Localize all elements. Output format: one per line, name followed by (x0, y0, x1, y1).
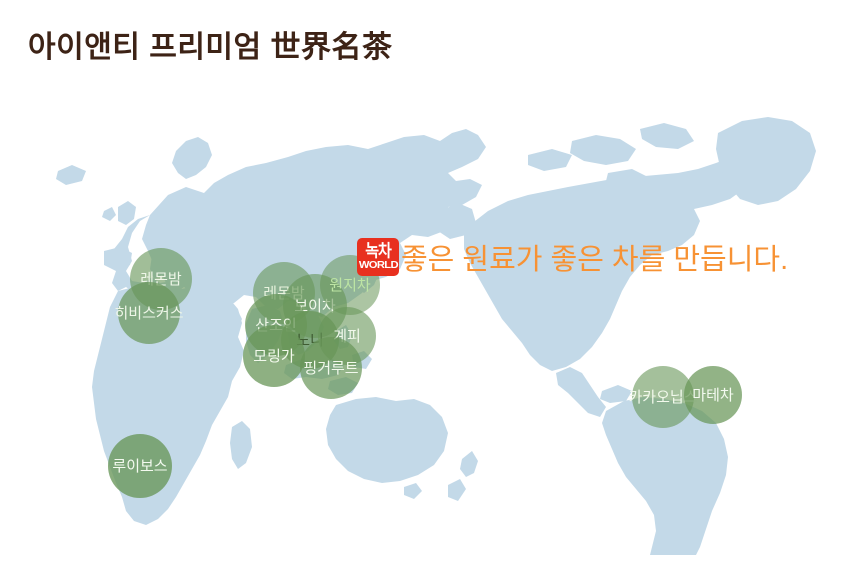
map-landmasses (56, 117, 816, 555)
ingredient-bubble-label: 모링가 (253, 349, 294, 364)
brand-row: 녹차 WORLD 좋은 원료가 좋은 차를 만듭니다. (357, 236, 788, 278)
ingredient-bubble[interactable]: 히비스커스 (118, 282, 180, 344)
ingredient-bubble-label: 히비스커스 (115, 306, 184, 321)
ingredient-bubble-label: 루이보스 (112, 459, 167, 474)
ingredient-bubble[interactable]: 핑거루트 (300, 337, 362, 399)
brand-logo-badge: 녹차 WORLD (357, 238, 399, 276)
brand-logo-bottom-text: WORLD (359, 261, 398, 271)
ingredient-bubble[interactable]: 모링가 (243, 325, 305, 387)
page-title: 아이앤티 프리미엄 世界名茶 (28, 22, 392, 66)
ingredient-bubble-label: 마테차 (692, 388, 733, 403)
ingredient-bubble-label: 핑거루트 (303, 361, 358, 376)
ingredient-bubble[interactable]: 루이보스 (108, 434, 172, 498)
ingredient-bubble[interactable]: 마테차 (684, 366, 742, 424)
ingredient-bubble-label: 원지차 (329, 278, 370, 293)
brand-logo-top-text: 녹차 (365, 242, 391, 259)
tagline: 좋은 원료가 좋은 차를 만듭니다. (401, 236, 788, 278)
slide-canvas: 아이앤티 프리미엄 世界名茶 녹차 WORLD 좋은 원료가 좋은 차를 만듭니… (0, 0, 860, 577)
